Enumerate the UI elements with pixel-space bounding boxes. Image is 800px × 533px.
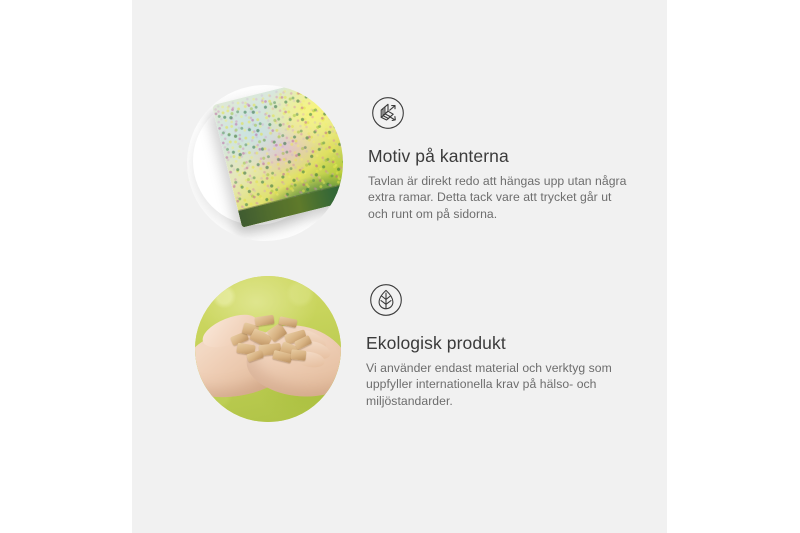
feature-item-motiv-pa-kanterna: Motiv på kanterna Tavlan är direkt redo … <box>187 85 630 241</box>
feature-title: Ekologisk produkt <box>366 332 644 354</box>
wrapped-canvas-edge-icon <box>368 93 408 133</box>
canvas-corner-photo <box>187 85 343 241</box>
feature-title: Motiv på kanterna <box>368 145 630 167</box>
hands-wood-chips-photo <box>195 276 341 422</box>
feature-list: Motiv på kanterna Tavlan är direkt redo … <box>132 0 667 533</box>
leaf-icon <box>366 280 406 320</box>
feature-copy: Motiv på kanterna Tavlan är direkt redo … <box>368 85 630 222</box>
feature-item-ekologisk-produkt: Ekologisk produkt Vi använder endast mat… <box>195 272 644 422</box>
wood-chips <box>229 316 315 364</box>
product-feature-banner: Motiv på kanterna Tavlan är direkt redo … <box>0 0 800 533</box>
feature-copy: Ekologisk produkt Vi använder endast mat… <box>366 272 644 409</box>
feature-description: Vi använder endast material och verktyg … <box>366 360 644 409</box>
feature-description: Tavlan är direkt redo att hängas upp uta… <box>368 173 630 222</box>
